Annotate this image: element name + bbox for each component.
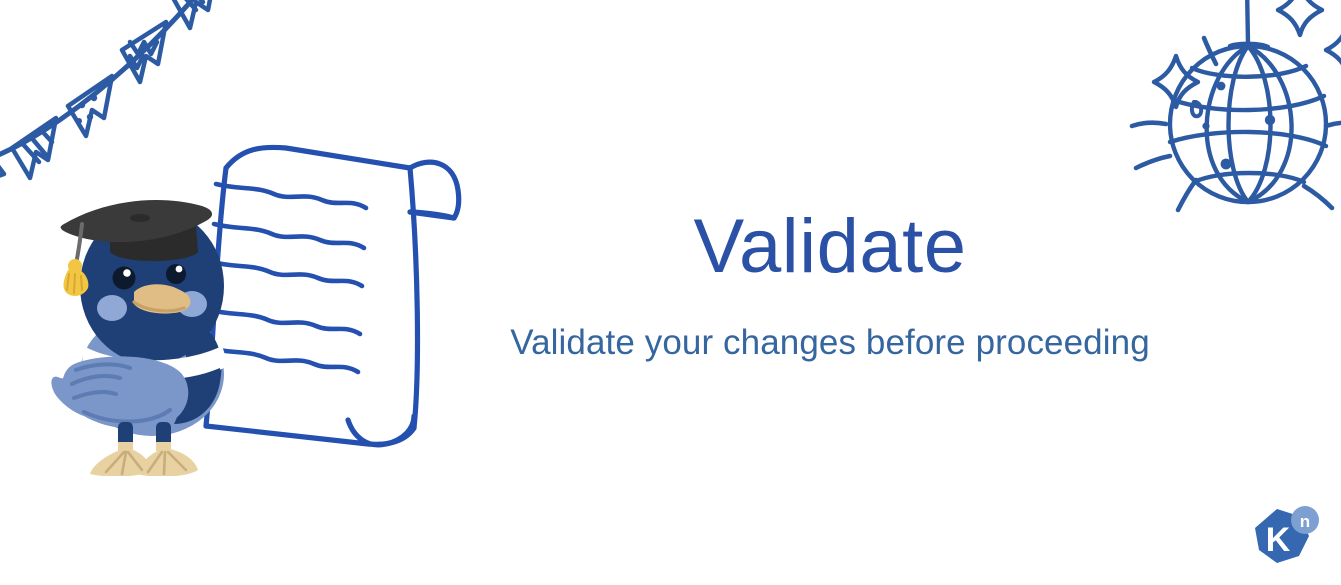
bunting-flag-dots [68, 76, 112, 136]
bird-beak [134, 284, 191, 313]
bird-wing-feather-lines [72, 364, 170, 421]
bird-head [80, 208, 224, 364]
bunting-flag-zigzag [122, 22, 166, 82]
graduation-cap-icon [61, 200, 212, 296]
party-bunting-icon [0, 0, 224, 192]
sparkle-icon [1154, 0, 1341, 107]
bunting-flag-stripes [12, 118, 56, 178]
bird-cheek-left [97, 295, 127, 321]
bird-belly [80, 312, 224, 436]
kn-logo[interactable]: K n [1247, 503, 1323, 573]
discoball-rays [1132, 38, 1341, 210]
bird-wing [62, 356, 188, 428]
bunting-flag-plain [0, 142, 4, 192]
bird-body-lower-dark [88, 364, 220, 403]
bunting-flag-top [172, 0, 216, 28]
page-subtitle: Validate your changes before proceeding [460, 322, 1200, 364]
bird-legs [118, 422, 171, 451]
bird-eyes [113, 264, 187, 290]
discoball-facet-dots [1202, 82, 1275, 170]
bird-cheek-right [177, 291, 207, 317]
cap-tassel [64, 259, 89, 296]
page-title: Validate [460, 206, 1200, 288]
discoball-facet-marks [1192, 102, 1201, 116]
bird-tail [51, 377, 100, 419]
scroll-certificate-icon [178, 128, 474, 468]
logo-letter-k: K [1266, 521, 1291, 559]
bird-feet [90, 448, 198, 476]
disco-ball-icon [1118, 0, 1341, 232]
hero-text-block: Validate Validate your changes before pr… [460, 206, 1200, 364]
slide-canvas: Validate Validate your changes before pr… [0, 0, 1341, 585]
graduate-bird-mascot [48, 186, 258, 476]
scroll-text-lines [208, 184, 366, 372]
logo-letter-n: n [1300, 512, 1310, 531]
bird-body-dark [174, 318, 221, 424]
bird-neck-band [82, 346, 225, 382]
